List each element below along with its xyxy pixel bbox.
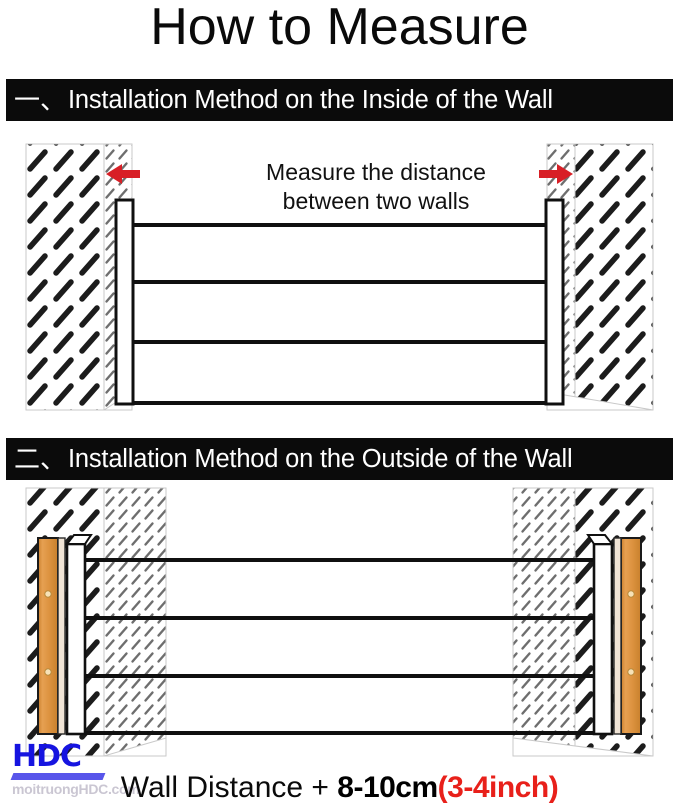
wall-right-edge (513, 488, 575, 756)
spacer-left (58, 538, 65, 734)
screw-left-lower (45, 669, 51, 675)
caption-imperial-value: (3-4inch) (438, 771, 559, 804)
bottom-caption: Wall Distance + 8-10cm(3-4inch) (0, 770, 679, 806)
wall-left-face (26, 144, 104, 410)
screw-left-upper (45, 591, 51, 597)
gate-post-right (594, 544, 612, 734)
wall-right-face (575, 144, 653, 410)
section-label-outside: Installation Method on the Outside of th… (68, 446, 572, 472)
measure-callout-text: Measure the distance between two walls (240, 158, 512, 216)
caption-metric-value: 8-10cm (337, 771, 437, 804)
screw-right-lower (628, 669, 634, 675)
gate-assembly (116, 200, 563, 404)
spacer-right (614, 538, 621, 734)
page-title: How to Measure (0, 0, 679, 58)
caption-plain-text: Wall Distance + (121, 771, 337, 804)
screw-right-upper (628, 591, 634, 597)
gate-post-left (67, 544, 85, 734)
mounting-plate-right (621, 538, 641, 734)
mount-assembly-left (38, 535, 91, 734)
section-header-outside: 二、 Installation Method on the Outside of… (6, 438, 673, 480)
section-label-inside: Installation Method on the Inside of the… (68, 87, 553, 113)
wall-left-edge (104, 488, 166, 756)
mount-assembly-right (588, 535, 641, 734)
outside-mount-diagram (0, 482, 679, 772)
outside-mount-illustration (0, 482, 679, 772)
section-header-inside: 一、 Installation Method on the Inside of … (6, 79, 673, 121)
gate-post-right (546, 200, 563, 404)
section-numeral-two: 二、 (14, 447, 66, 473)
watermark-logo: HDC (12, 742, 162, 772)
gate-post-left (116, 200, 133, 404)
section-numeral-one: 一、 (14, 88, 66, 114)
mounting-plate-left (38, 538, 58, 734)
